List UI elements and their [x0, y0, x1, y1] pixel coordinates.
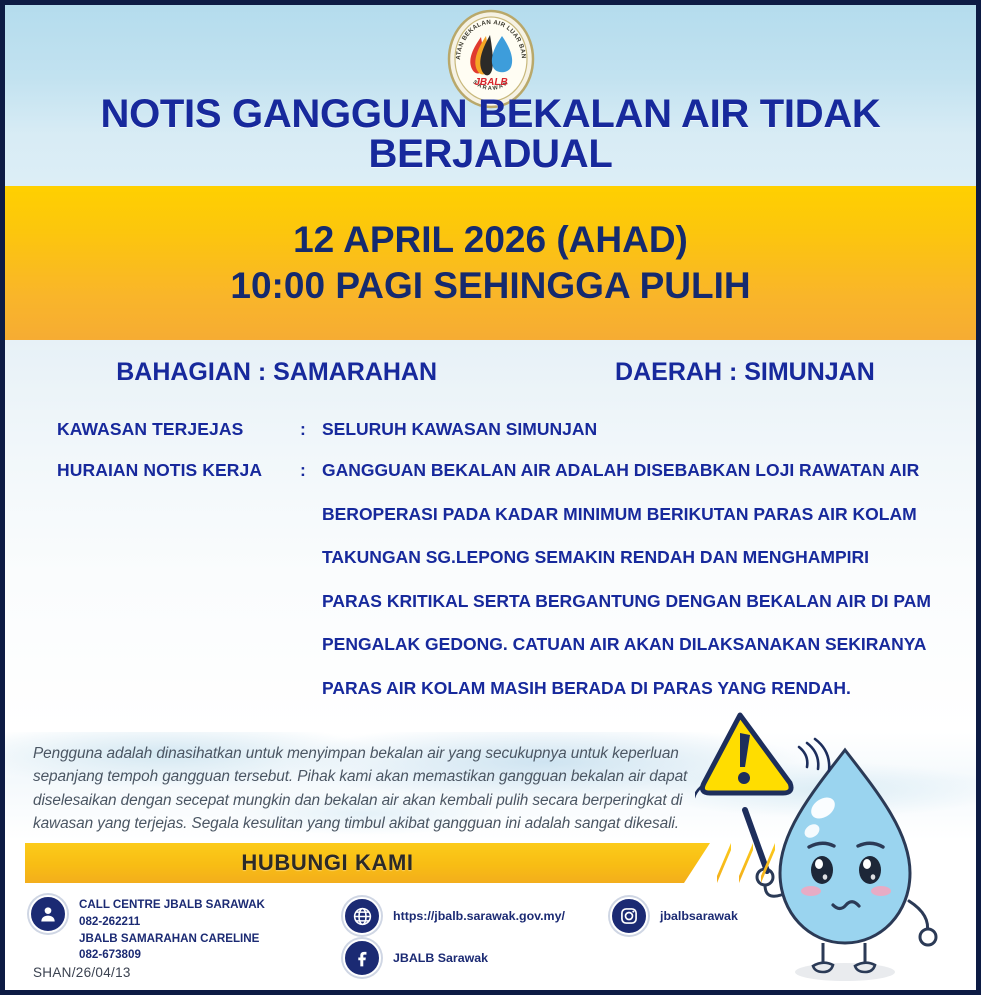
notice-body: BAHAGIAN : SAMARAHAN DAERAH : SIMUNJAN K…	[5, 340, 976, 732]
facebook-handle: JBALB Sarawak	[393, 939, 488, 968]
work-description-line-1: GANGGUAN BEKALAN AIR ADALAH DISEBABKAN L…	[322, 460, 950, 481]
instagram-handle: jbalbsarawak	[660, 897, 738, 926]
advisory-text: Pengguna adalah dinasihatkan untuk menyi…	[5, 732, 705, 836]
detail-row-affected-area: KAWASAN TERJEJAS : SELURUH KAWASAN SIMUN…	[5, 419, 976, 440]
page-title: NOTIS GANGGUAN BEKALAN AIR TIDAK BERJADU…	[5, 94, 976, 174]
contact-banner-label: HUBUNGI KAMI	[241, 850, 493, 876]
person-icon	[29, 895, 67, 933]
contact-banner: HUBUNGI KAMI	[25, 843, 710, 883]
globe-icon	[343, 897, 381, 935]
work-description-value: GANGGUAN BEKALAN AIR ADALAH DISEBABKAN L…	[322, 460, 976, 699]
banner-stripe-2	[739, 843, 753, 883]
advisory-section: Pengguna adalah dinasihatkan untuk menyi…	[5, 732, 976, 840]
banner-stripe-1	[717, 843, 731, 883]
region-row: BAHAGIAN : SAMARAHAN DAERAH : SIMUNJAN	[5, 358, 976, 387]
facebook-icon	[343, 939, 381, 977]
contact-call-centre[interactable]: CALL CENTRE JBALB SARAWAK 082-262211 JBA…	[29, 895, 265, 964]
call-centre-line-2: 082-262211	[79, 914, 265, 931]
contact-facebook[interactable]: JBALB Sarawak	[343, 939, 488, 977]
svg-text:JBALB: JBALB	[474, 77, 507, 88]
affected-area-colon: :	[300, 419, 322, 440]
work-description-line-3: TAKUNGAN SG.LEPONG SEMAKIN RENDAH DAN ME…	[322, 547, 950, 568]
poster-header: JABATAN BEKALAN AIR LUAR BANDAR SARAWAK …	[5, 5, 976, 186]
call-centre-line-1: CALL CENTRE JBALB SARAWAK	[79, 897, 265, 914]
contact-banner-wrap: HUBUNGI KAMI	[25, 843, 770, 883]
work-description-label: HURAIAN NOTIS KERJA	[57, 460, 300, 699]
banner-stripe-3	[761, 843, 775, 883]
work-description-line-4: PARAS KRITIKAL SERTA BERGANTUNG DENGAN B…	[322, 591, 950, 612]
work-description-line-6: PARAS AIR KOLAM MASIH BERADA DI PARAS YA…	[322, 678, 950, 699]
call-centre-line-4: 082-673809	[79, 947, 265, 964]
affected-area-value: SELURUH KAWASAN SIMUNJAN	[322, 419, 976, 440]
work-description-line-2: BEROPERASI PADA KADAR MINIMUM BERIKUTAN …	[322, 504, 950, 525]
affected-area-label: KAWASAN TERJEJAS	[57, 419, 300, 440]
detail-row-work-description: HURAIAN NOTIS KERJA : GANGGUAN BEKALAN A…	[5, 460, 976, 699]
work-description-line-5: PENGALAK GEDONG. CATUAN AIR AKAN DILAKSA…	[322, 634, 950, 655]
contact-instagram[interactable]: jbalbsarawak	[610, 897, 738, 935]
division-label: BAHAGIAN : SAMARAHAN	[116, 358, 437, 387]
water-disruption-notice-poster: JABATAN BEKALAN AIR LUAR BANDAR SARAWAK …	[0, 0, 981, 995]
contact-list: CALL CENTRE JBALB SARAWAK 082-262211 JBA…	[5, 889, 976, 979]
instagram-icon	[610, 897, 648, 935]
affected-area-line-1: SELURUH KAWASAN SIMUNJAN	[322, 419, 950, 440]
disruption-time: 10:00 PAGI SEHINGGA PULIH	[230, 266, 750, 306]
work-description-colon: :	[300, 460, 322, 699]
date-time-banner: 12 APRIL 2026 (AHAD) 10:00 PAGI SEHINGGA…	[5, 186, 976, 340]
call-centre-line-3: JBALB SAMARAHAN CARELINE	[79, 931, 265, 948]
call-centre-text: CALL CENTRE JBALB SARAWAK 082-262211 JBA…	[79, 895, 265, 964]
website-url: https://jbalb.sarawak.gov.my/	[393, 897, 565, 926]
reference-code: SHAN/26/04/13	[33, 965, 131, 980]
contact-website[interactable]: https://jbalb.sarawak.gov.my/	[343, 897, 565, 935]
district-label: DAERAH : SIMUNJAN	[615, 358, 875, 387]
disruption-date: 12 APRIL 2026 (AHAD)	[293, 220, 688, 260]
